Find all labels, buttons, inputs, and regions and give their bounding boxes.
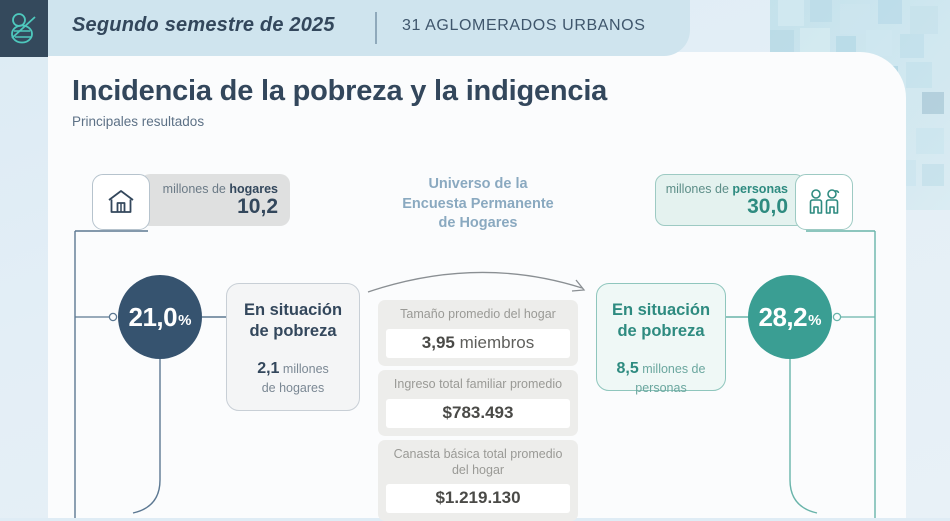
households-percent-number: 21,0 (129, 302, 178, 333)
people-box-title-line2: de pobreza (612, 321, 710, 342)
people-value: 30,0 (747, 196, 788, 218)
households-box-unit2: de hogares (262, 381, 325, 395)
households-box-value: 2,1 (257, 360, 279, 377)
metric-card: Tamaño promedio del hogar 3,95 miembros (378, 300, 578, 366)
header-period-label: Segundo semestre de 2025 (72, 14, 335, 37)
households-percent-symbol: % (178, 312, 191, 329)
households-poverty-box: En situación de pobreza 2,1 millones de … (226, 283, 360, 411)
people-box-subvalue: 8,5 millones de personas (609, 359, 714, 396)
metric-value: $783.493 (386, 399, 570, 428)
page-subtitle: Principales resultados (72, 114, 204, 129)
universe-caption-line1: Universo de la (383, 175, 573, 195)
metric-label: Tamaño promedio del hogar (386, 307, 570, 323)
header-scope-label: 31 AGLOMERADOS URBANOS (402, 17, 646, 35)
indec-logo-icon (9, 12, 39, 46)
metric-card: Ingreso total familiar promedio $783.493 (378, 370, 578, 436)
house-icon-card (92, 174, 150, 230)
universe-households-chip: millones de hogares 10,2 (92, 174, 290, 230)
people-box-title-line1: En situación (612, 300, 710, 321)
two-people-icon (805, 187, 843, 217)
metric-value: 3,95 miembros (386, 329, 570, 358)
universe-caption-line3: de Hogares (383, 214, 573, 234)
people-poverty-box: En situación de pobreza 8,5 millones de … (596, 283, 726, 391)
people-poverty-percent-circle: 28,2 % (748, 275, 832, 359)
people-box-value: 8,5 (617, 360, 639, 377)
metric-value-unit: miembros (455, 333, 534, 352)
people-icon-card (795, 174, 853, 230)
metric-value-number: 3,95 (422, 333, 455, 352)
households-box-title-line1: En situación (244, 300, 342, 321)
people-text-card: millones de personas 30,0 (655, 174, 805, 226)
households-box-title: En situación de pobreza (244, 300, 342, 343)
metric-label: Canasta básica total promedio del hogar (386, 447, 570, 478)
people-box-title: En situación de pobreza (612, 300, 710, 343)
households-box-subvalue: 2,1 millones de hogares (249, 359, 337, 396)
card-left-strip (48, 52, 58, 518)
households-value: 10,2 (237, 196, 278, 218)
metric-card: Canasta básica total promedio del hogar … (378, 440, 578, 521)
people-box-unit1: millones de (639, 362, 706, 376)
universe-caption-line2: Encuesta Permanente (383, 195, 573, 215)
metric-value-number: $783.493 (443, 403, 514, 422)
people-percent-number: 28,2 (759, 302, 808, 333)
metric-value-number: $1.219.130 (435, 488, 520, 507)
logo-container (0, 0, 48, 57)
people-box-unit2: personas (635, 381, 686, 395)
households-box-title-line2: de pobreza (244, 321, 342, 342)
households-text-card: millones de hogares 10,2 (140, 174, 290, 226)
universe-people-chip: millones de personas 30,0 (655, 174, 853, 230)
households-box-unit1: millones (279, 362, 328, 376)
households-label: millones de hogares (163, 182, 278, 196)
house-icon (106, 187, 136, 217)
universe-caption: Universo de la Encuesta Permanente de Ho… (383, 175, 573, 234)
households-poverty-percent-circle: 21,0 % (118, 275, 202, 359)
metric-value: $1.219.130 (386, 484, 570, 513)
header-divider (375, 12, 377, 44)
people-percent-symbol: % (808, 312, 821, 329)
metric-label: Ingreso total familiar promedio (386, 377, 570, 393)
page-title: Incidencia de la pobreza y la indigencia (72, 75, 607, 108)
people-label: millones de personas (666, 182, 788, 196)
